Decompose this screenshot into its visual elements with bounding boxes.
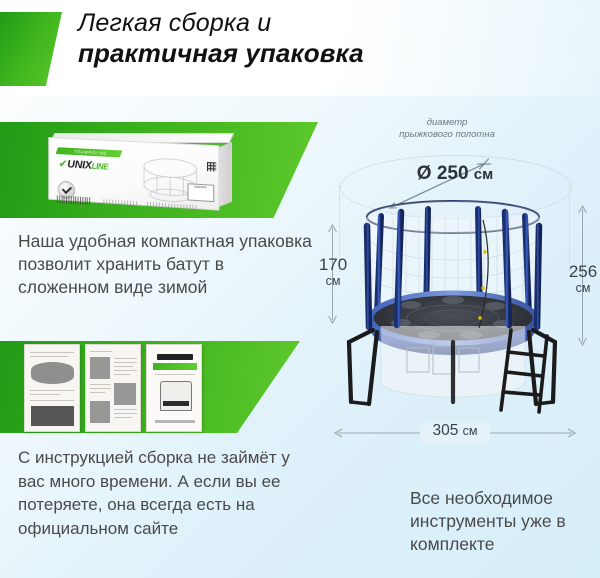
manual-pages-image bbox=[24, 344, 210, 434]
manual-trampoline-icon bbox=[160, 381, 192, 411]
height-outer-unit: см bbox=[566, 281, 600, 296]
title-line-1: Легкая сборка и bbox=[78, 8, 578, 38]
logo-suffix-text: LINE bbox=[92, 162, 109, 172]
trampoline-illustration bbox=[333, 196, 573, 421]
manual-footer-strip bbox=[155, 420, 195, 423]
barcode-icon bbox=[57, 195, 92, 205]
manual-logo bbox=[157, 354, 193, 360]
height-outer-value: 256 bbox=[566, 262, 600, 281]
diameter-caption: диаметр прыжкового полотна bbox=[352, 117, 542, 141]
box-ribbon-label: TRAMPOLINE bbox=[59, 147, 122, 157]
manual-cover-page bbox=[146, 344, 202, 432]
manual-page-2 bbox=[85, 344, 141, 432]
height-inner-dimension: 170 см bbox=[316, 255, 350, 289]
box-info-strip-1 bbox=[103, 199, 139, 206]
diameter-caption-line-1: диаметр bbox=[352, 117, 542, 129]
width-label: 305 см bbox=[425, 422, 484, 440]
manual-page-1 bbox=[24, 344, 80, 432]
diameter-symbol: Ø bbox=[417, 163, 432, 184]
width-value: 305 bbox=[432, 422, 458, 439]
warning-title: WARNING bbox=[194, 186, 207, 190]
paragraph-instructions: С инструкцией сборка не займёт у вас мно… bbox=[18, 446, 298, 540]
qr-code-icon bbox=[207, 162, 216, 172]
header-accent-shape bbox=[0, 12, 62, 86]
diameter-number: 250 bbox=[437, 163, 469, 184]
height-outer-dimension: 256 см bbox=[566, 262, 600, 296]
warning-label: WARNING bbox=[187, 183, 214, 202]
diameter-caption-line-2: прыжкового полотна bbox=[352, 129, 542, 141]
paragraph-packaging: Наша удобная компактная упаковка позволи… bbox=[18, 230, 318, 299]
manual-banner bbox=[153, 363, 197, 370]
logo-tick-icon: ✔ bbox=[59, 158, 68, 170]
paragraph-tools: Все необходимое инструменты уже в компле… bbox=[410, 487, 600, 556]
page-header: Легкая сборка и практичная упаковка bbox=[0, 0, 600, 96]
box-front-face: TRAMPOLINE ✔UNIXLINE WARNING bbox=[48, 137, 219, 211]
height-inner-value: 170 bbox=[316, 255, 350, 274]
title-line-2: практичная упаковка bbox=[78, 38, 578, 69]
height-inner-unit: см bbox=[316, 274, 350, 289]
package-box-image: TRAMPOLINE ✔UNIXLINE WARNING bbox=[46, 133, 232, 213]
width-unit: см bbox=[463, 424, 478, 438]
logo-main-text: UNIX bbox=[67, 159, 91, 172]
unixline-logo: ✔UNIXLINE bbox=[59, 157, 109, 173]
diameter-unit: см bbox=[474, 166, 493, 183]
diameter-value: Ø 250 см bbox=[380, 163, 530, 185]
width-dimension: 305 см bbox=[330, 422, 580, 444]
page-title: Легкая сборка и практичная упаковка bbox=[78, 8, 578, 69]
promo-page: Легкая сборка и практичная упаковка TRAM… bbox=[0, 0, 600, 578]
